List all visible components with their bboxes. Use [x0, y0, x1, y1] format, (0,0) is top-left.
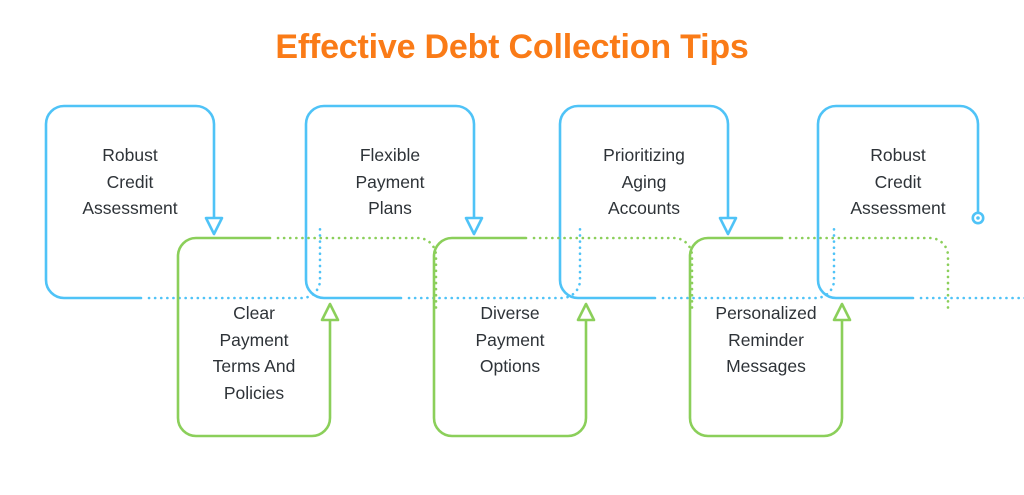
top_row-node-label-3: Robust Credit Assessment — [832, 142, 964, 222]
flow-diagram — [0, 0, 1024, 495]
endpoint-dot-icon — [976, 216, 980, 220]
arrow-up-icon-0 — [322, 304, 338, 320]
top_row-node-label-1: Flexible Payment Plans — [320, 142, 460, 222]
infographic-canvas: Effective Debt Collection Tips Robust Cr… — [0, 0, 1024, 495]
arrow-up-icon-2 — [834, 304, 850, 320]
arrow-down-icon-1 — [466, 218, 482, 234]
bottom_row-node-label-1: Diverse Payment Options — [448, 300, 572, 380]
arrow-down-icon-2 — [720, 218, 736, 234]
bottom_row-node-label-2: Personalized Reminder Messages — [704, 300, 828, 380]
top-node-outline-dotted-3 — [921, 226, 1024, 298]
arrow-down-icon-0 — [206, 218, 222, 234]
top_row-node-label-2: Prioritizing Aging Accounts — [574, 142, 714, 222]
arrow-up-icon-1 — [578, 304, 594, 320]
bottom_row-node-label-0: Clear Payment Terms And Policies — [192, 300, 316, 406]
top_row-node-label-0: Robust Credit Assessment — [60, 142, 200, 222]
